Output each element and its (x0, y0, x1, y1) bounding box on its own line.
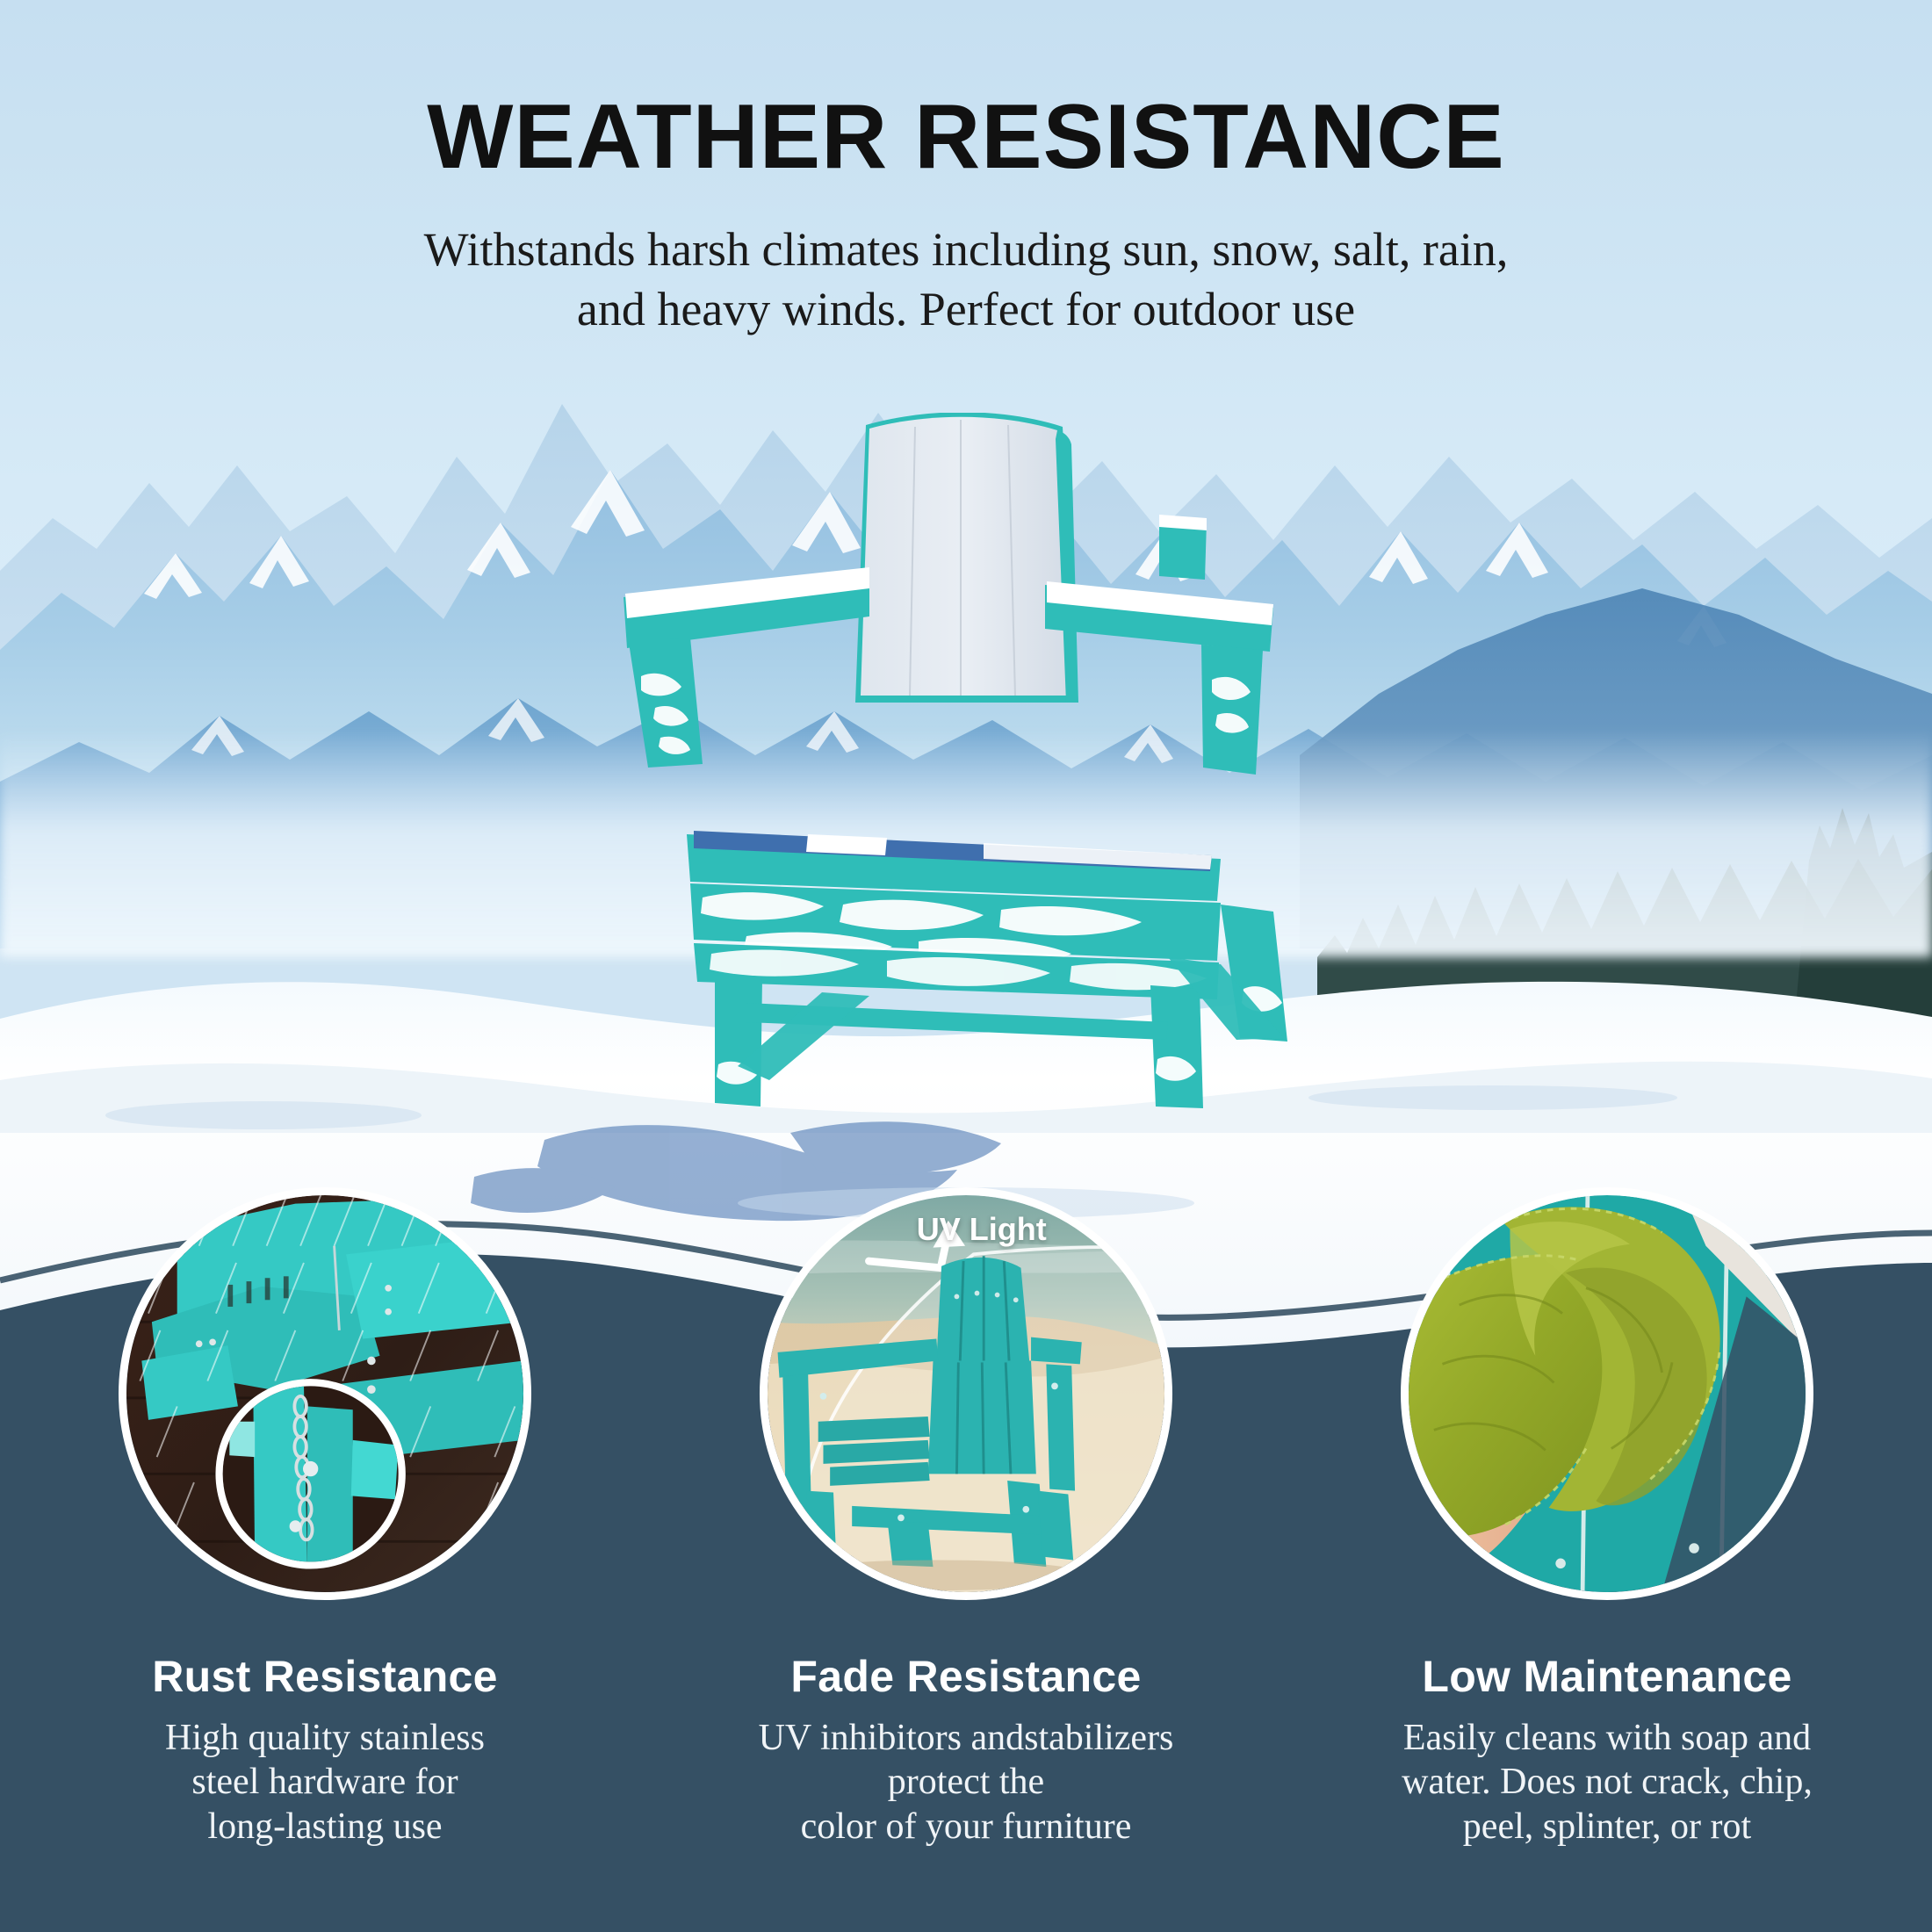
feature-desc-line-1: High quality stainless (18, 1716, 632, 1760)
feature-row: Rust Resistance High quality stainless s… (0, 0, 1932, 1932)
product-feature-graphic: WEATHER RESISTANCE Withstands harsh clim… (0, 0, 1932, 1932)
feature-desc-line-1: UV inhibitors andstabilizers (659, 1716, 1273, 1760)
feature-desc-line-3: peel, splinter, or rot (1300, 1805, 1914, 1849)
feature-title: Low Maintenance (1300, 1651, 1914, 1702)
feature-rust-resistance: Rust Resistance High quality stainless s… (18, 1187, 632, 1849)
feature-desc-line-3: long-lasting use (18, 1805, 632, 1849)
uv-light-label: UV Light (917, 1211, 1047, 1248)
feature-title: Rust Resistance (18, 1651, 632, 1702)
feature-desc-line-2: protect the (659, 1760, 1273, 1804)
rust-resistance-photo (119, 1187, 531, 1600)
feature-description: High quality stainless steel hardware fo… (18, 1716, 632, 1849)
feature-title: Fade Resistance (659, 1651, 1273, 1702)
feature-desc-line-2: steel hardware for (18, 1760, 632, 1804)
feature-description: UV inhibitors andstabilizers protect the… (659, 1716, 1273, 1849)
feature-low-maintenance: Low Maintenance Easily cleans with soap … (1300, 1187, 1914, 1849)
fade-resistance-photo: UV Light (760, 1187, 1172, 1600)
feature-desc-line-2: water. Does not crack, chip, (1300, 1760, 1914, 1804)
feature-description: Easily cleans with soap and water. Does … (1300, 1716, 1914, 1849)
feature-desc-line-3: color of your furniture (659, 1805, 1273, 1849)
feature-desc-line-1: Easily cleans with soap and (1300, 1716, 1914, 1760)
low-maintenance-photo (1401, 1187, 1813, 1600)
feature-fade-resistance: UV Light Fade Resistance UV inhibitors a… (659, 1187, 1273, 1849)
